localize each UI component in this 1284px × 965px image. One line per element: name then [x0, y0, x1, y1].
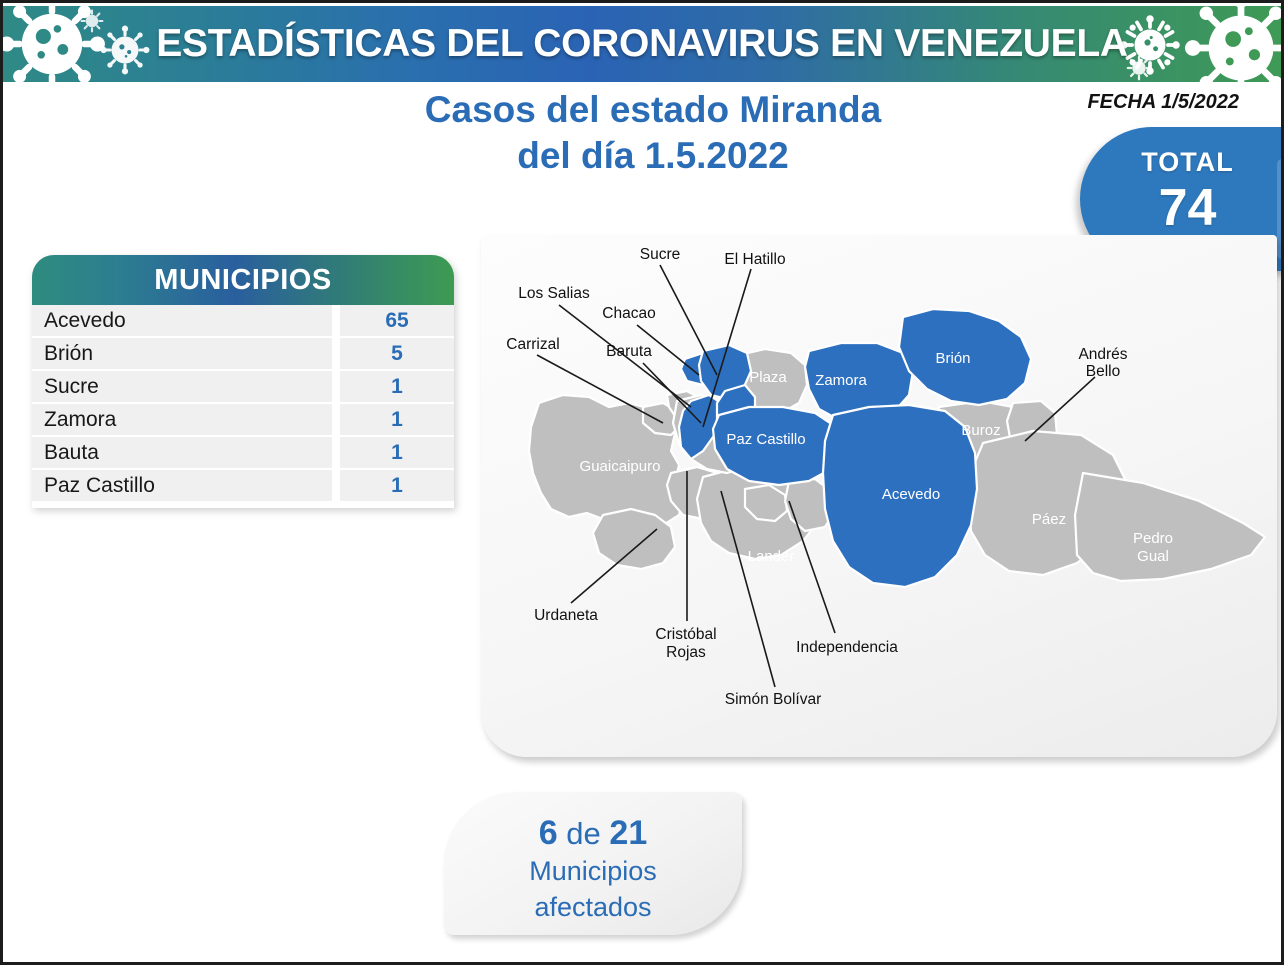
map-panel	[481, 235, 1277, 757]
column-gap	[332, 305, 340, 336]
column-gap	[332, 338, 340, 369]
infographic-slide: ESTADÍSTICAS DEL CORONAVIRUS EN VENEZUEL…	[0, 0, 1284, 965]
municipio-name: Bauta	[32, 437, 332, 468]
affected-count: 6	[539, 814, 558, 852]
column-gap	[332, 371, 340, 402]
municipio-name: Paz Castillo	[32, 470, 332, 501]
total-label: TOTAL	[1080, 147, 1284, 178]
municipios-table-body: Acevedo 65 Brión 5 Sucre 1 Zamora 1 Baut…	[32, 305, 454, 508]
header-title: ESTADÍSTICAS DEL CORONAVIRUS EN VENEZUEL…	[3, 6, 1281, 82]
municipio-count: 1	[340, 470, 454, 501]
total-value: 74	[1080, 180, 1284, 236]
municipio-count: 1	[340, 371, 454, 402]
total-municipios: 21	[609, 814, 647, 852]
table-row: Sucre 1	[32, 371, 454, 402]
date-label: FECHA 1/5/2022	[1087, 91, 1239, 114]
municipio-count: 1	[340, 404, 454, 435]
footer-line-municipios: Municipios	[444, 853, 742, 889]
table-row: Brión 5	[32, 338, 454, 369]
municipio-name: Zamora	[32, 404, 332, 435]
municipio-count: 5	[340, 338, 454, 369]
table-row: Acevedo 65	[32, 305, 454, 336]
municipio-name: Sucre	[32, 371, 332, 402]
page-title: Casos del estado Miranda del día 1.5.202…	[303, 87, 1003, 179]
column-gap	[332, 437, 340, 468]
municipios-table-header: MUNICIPIOS	[32, 255, 454, 305]
affected-municipalities-badge: 6 de 21 Municipios afectados	[444, 792, 742, 935]
footer-de: de	[558, 816, 610, 851]
page-title-line1: Casos del estado Miranda	[303, 87, 1003, 133]
footer-line-afectados: afectados	[444, 889, 742, 925]
municipio-name: Acevedo	[32, 305, 332, 336]
page-title-line2: del día 1.5.2022	[303, 133, 1003, 179]
municipio-count: 1	[340, 437, 454, 468]
column-gap	[332, 404, 340, 435]
municipio-name: Brión	[32, 338, 332, 369]
table-row: Zamora 1	[32, 404, 454, 435]
municipios-table: MUNICIPIOS Acevedo 65 Brión 5 Sucre 1 Za…	[32, 255, 454, 508]
affected-ratio: 6 de 21	[444, 814, 742, 853]
municipio-count: 65	[340, 305, 454, 336]
table-row: Bauta 1	[32, 437, 454, 468]
header-banner: ESTADÍSTICAS DEL CORONAVIRUS EN VENEZUEL…	[3, 6, 1281, 82]
table-row: Paz Castillo 1	[32, 470, 454, 501]
column-gap	[332, 470, 340, 501]
